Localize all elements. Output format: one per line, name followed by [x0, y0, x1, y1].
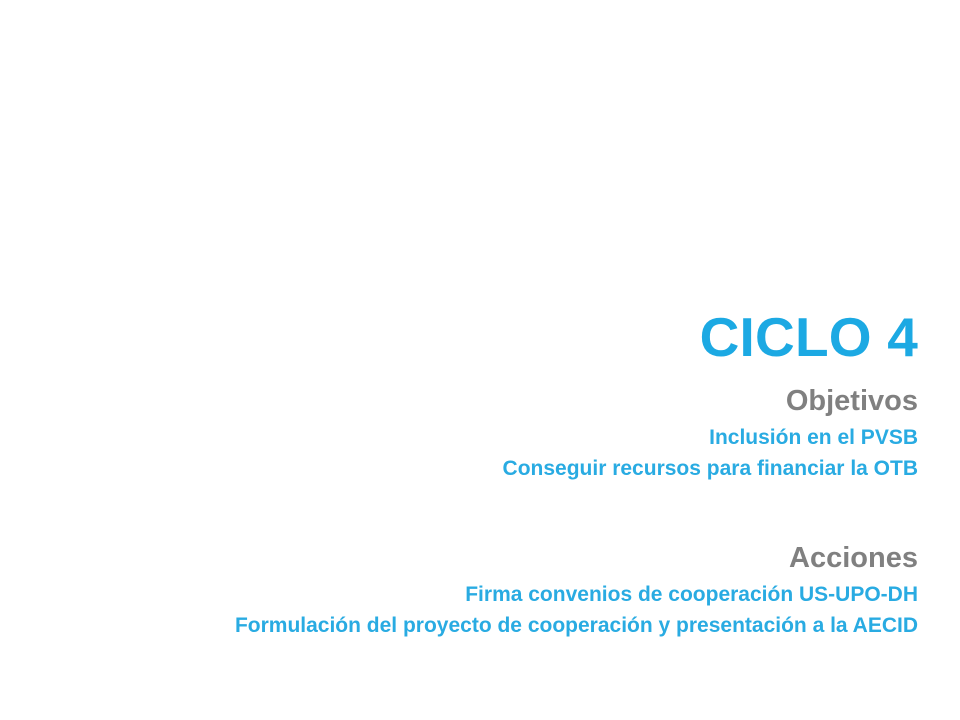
section-heading-acciones: Acciones — [40, 540, 918, 576]
section-acciones: Acciones Firma convenios de cooperación … — [40, 540, 918, 641]
page-title: CICLO 4 — [40, 306, 918, 368]
slide-canvas: CICLO 4 Objetivos Inclusión en el PVSB C… — [0, 0, 960, 720]
section-lines-objetivos: Inclusión en el PVSB Conseguir recursos … — [40, 422, 918, 484]
section-lines-acciones: Firma convenios de cooperación US-UPO-DH… — [40, 579, 918, 641]
list-item: Firma convenios de cooperación US-UPO-DH — [40, 579, 918, 610]
list-item: Formulación del proyecto de cooperación … — [40, 610, 918, 641]
slide-text-column: CICLO 4 Objetivos Inclusión en el PVSB C… — [40, 306, 918, 641]
section-objetivos: Objetivos Inclusión en el PVSB Conseguir… — [40, 383, 918, 484]
list-item: Conseguir recursos para financiar la OTB — [40, 453, 918, 484]
list-item: Inclusión en el PVSB — [40, 422, 918, 453]
section-heading-objetivos: Objetivos — [40, 383, 918, 419]
